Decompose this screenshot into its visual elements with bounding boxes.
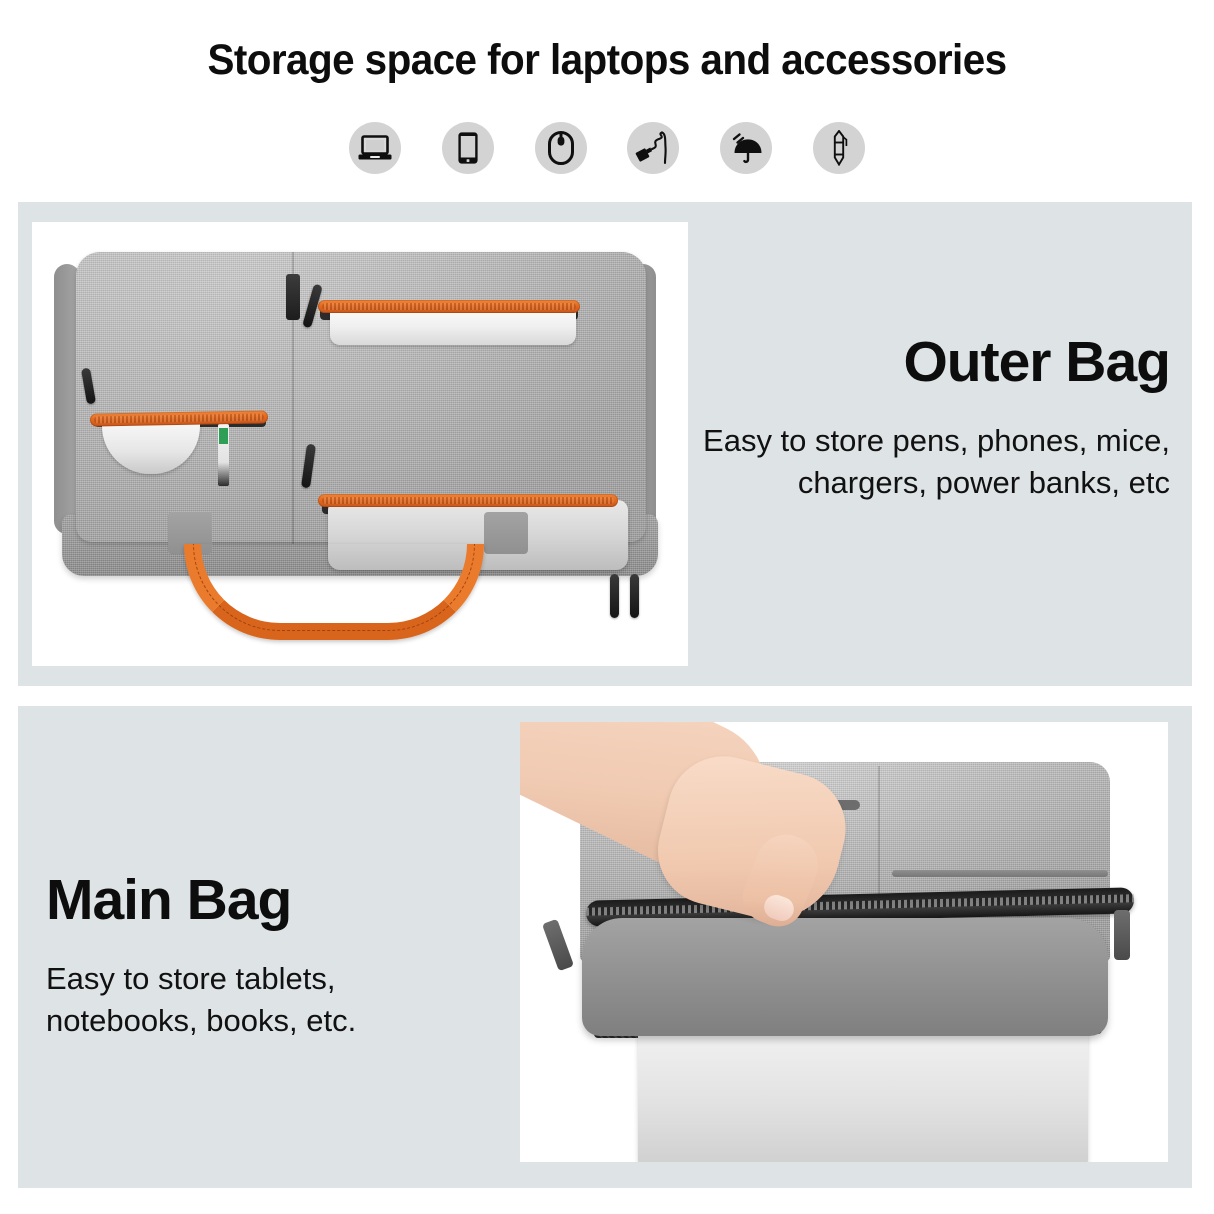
main-bag-heading: Main Bag	[46, 872, 291, 929]
phone-icon	[442, 122, 494, 174]
outer-bag-description: Easy to store pens, phones, mice, charge…	[700, 420, 1170, 504]
outer-bag-photo	[32, 222, 688, 666]
handle-loop-right	[484, 512, 528, 554]
page-title: Storage space for laptops and accessorie…	[36, 36, 1177, 85]
main-bag-description: Easy to store tablets, notebooks, books,…	[46, 958, 466, 1042]
pen-in-pocket	[218, 424, 229, 486]
pen-icon	[813, 122, 865, 174]
main-compartment-zipper-pulls	[610, 574, 650, 644]
charger-icon	[627, 122, 679, 174]
outer-bag-heading: Outer Bag	[903, 334, 1170, 391]
hand-opening-bag	[520, 722, 912, 946]
laptop-icon	[349, 122, 401, 174]
feature-icon-strip	[349, 121, 865, 174]
umbrella-icon	[720, 122, 772, 174]
lower-pocket-zipper	[318, 494, 618, 507]
brand-logo-tag	[286, 274, 300, 320]
laptop-inside	[638, 1022, 1088, 1162]
main-bag-photo	[520, 722, 1168, 1162]
zipper-pull-right	[1114, 910, 1130, 960]
top-pocket-zipper	[318, 300, 580, 313]
mouse-icon	[535, 122, 587, 174]
carry-handle	[184, 544, 484, 640]
main-bag-pocket-seam	[892, 870, 1108, 877]
